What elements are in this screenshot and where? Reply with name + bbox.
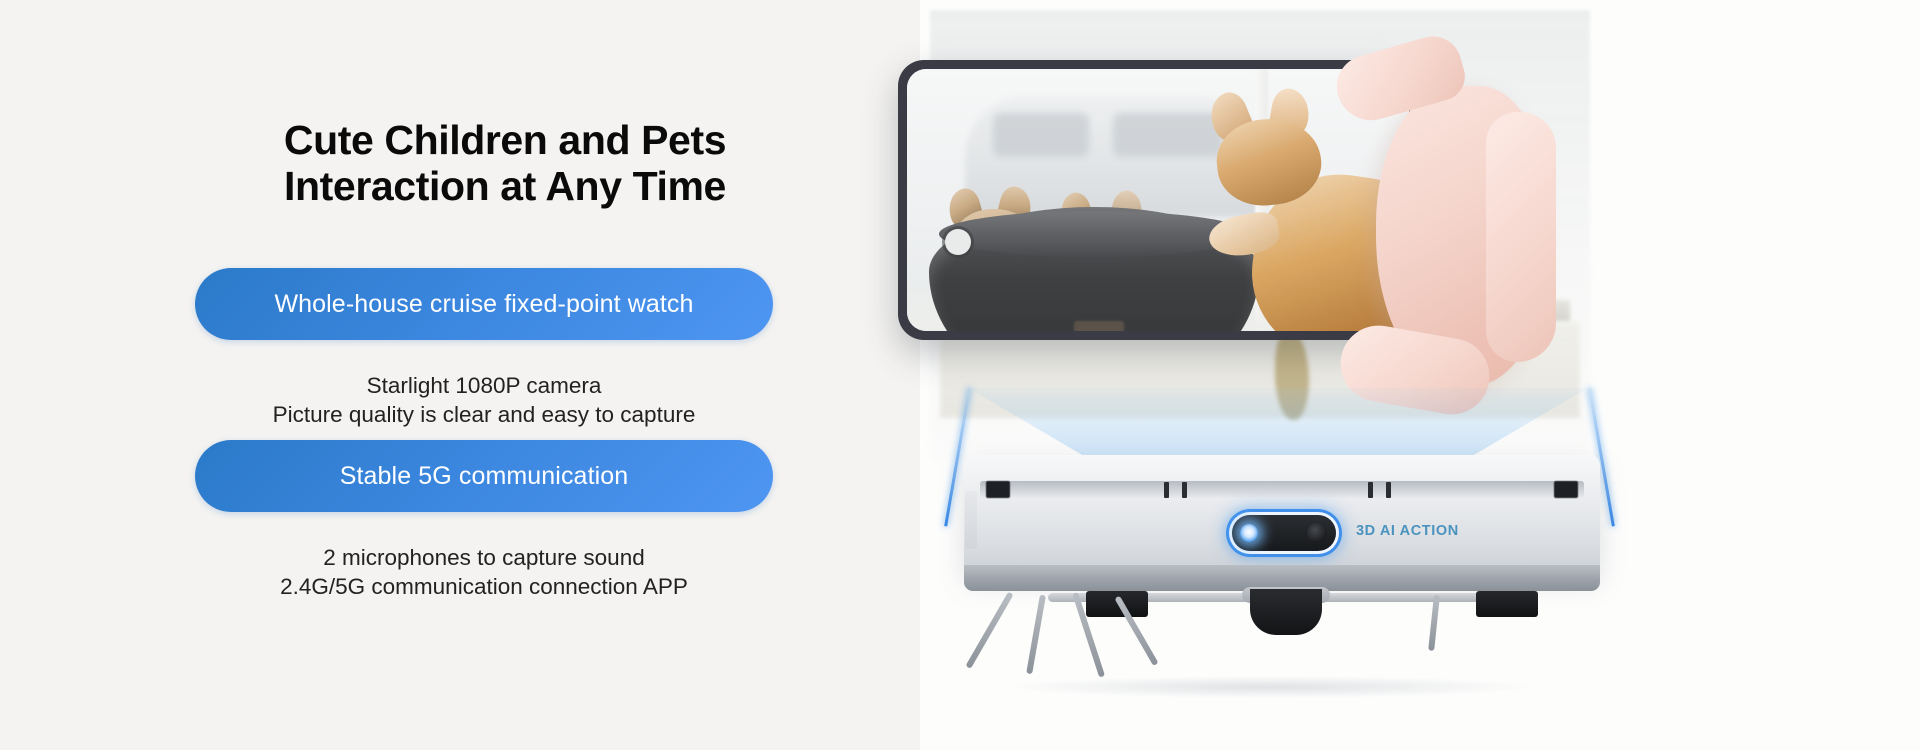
robot-bumper-seam bbox=[980, 481, 1584, 498]
floor-shadow bbox=[1010, 676, 1530, 698]
side-brush-bristle bbox=[1026, 594, 1046, 674]
feature-pill-5g-communication[interactable]: Stable 5G communication bbox=[195, 440, 773, 512]
robot-vacuum: 3D AI ACTION bbox=[964, 455, 1600, 685]
cat-orange-right bbox=[1207, 103, 1409, 331]
feature-pill-cruise-watch[interactable]: Whole-house cruise fixed-point watch bbox=[195, 268, 773, 340]
camera-lens-icon bbox=[1307, 523, 1327, 543]
robot-side-tab bbox=[965, 491, 977, 549]
3d-ai-sensor-module bbox=[1232, 515, 1336, 551]
perch-suction-cup bbox=[945, 229, 971, 255]
drive-wheel bbox=[1250, 589, 1322, 635]
promo-banner: Cute Children and Pets Interaction at An… bbox=[0, 0, 1920, 750]
feature-description-5g-communication: 2 microphones to capture sound 2.4G/5G c… bbox=[195, 544, 773, 602]
perch-rim bbox=[939, 211, 1249, 257]
bumper-cap-left bbox=[986, 481, 1010, 498]
bumper-cap-right bbox=[1554, 481, 1578, 498]
feature-pill-label: Whole-house cruise fixed-point watch bbox=[274, 290, 693, 319]
sensor-led-indicator bbox=[1240, 524, 1258, 542]
copy-column: Cute Children and Pets Interaction at An… bbox=[195, 0, 815, 750]
underside-module-right bbox=[1476, 591, 1538, 617]
bumper-slot bbox=[1386, 482, 1391, 498]
side-brush-bristle bbox=[965, 592, 1013, 669]
feature-pill-label: Stable 5G communication bbox=[340, 462, 629, 491]
page-title: Cute Children and Pets Interaction at An… bbox=[195, 118, 815, 210]
side-brush-bristle bbox=[1428, 595, 1440, 651]
robot-underside bbox=[964, 589, 1600, 685]
feature-description-cruise-watch: Starlight 1080P camera Picture quality i… bbox=[195, 372, 773, 430]
bumper-slot bbox=[1368, 482, 1373, 498]
smartphone-device bbox=[898, 60, 1418, 340]
robot-body bbox=[964, 455, 1600, 573]
perch-label-tag bbox=[1074, 321, 1124, 331]
phone-screen bbox=[907, 69, 1409, 331]
product-scene: 3D AI ACTION bbox=[920, 0, 1920, 750]
bumper-slot bbox=[1182, 482, 1187, 498]
car-window-left bbox=[993, 113, 1089, 157]
sensor-label: 3D AI ACTION bbox=[1356, 523, 1459, 539]
bumper-slot bbox=[1164, 482, 1169, 498]
